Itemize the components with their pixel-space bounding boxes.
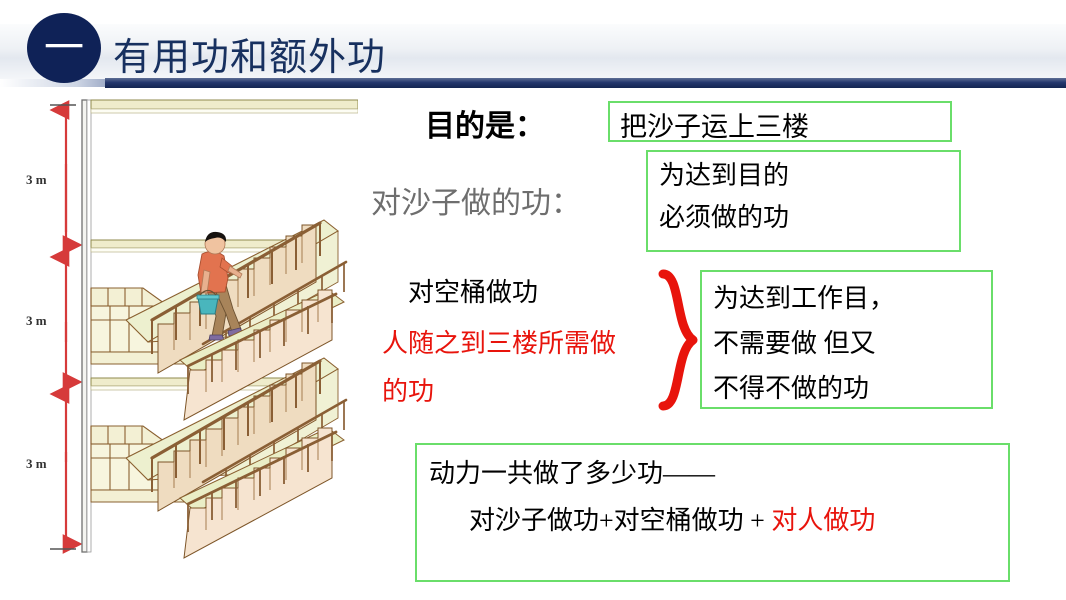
necessary-work-line-1: 为达到目的	[659, 155, 789, 197]
person-work-label: 人随之到三楼所需做的功	[382, 320, 632, 416]
measure-label-bottom: 3 m	[26, 456, 47, 472]
necessary-work-line-2: 必须做的功	[659, 197, 789, 239]
goal-box: 把沙子运上三楼	[608, 101, 952, 142]
total-work-formula-black: 对沙子做功+对空桶做功 +	[469, 506, 771, 535]
total-work-box: 动力一共做了多少功—— 对沙子做功+对空桶做功 + 对人做功	[415, 443, 1010, 582]
necessary-work-box-text: 为达到目的 必须做的功	[659, 155, 789, 239]
extra-work-box-text: 为达到工作目， 不需要做 但又 不得不做的功	[713, 276, 895, 411]
staircase-illustration: 3 m 3 m 3 m	[28, 92, 358, 562]
sand-work-label: 对沙子做的功：	[371, 178, 581, 222]
red-curly-brace	[655, 268, 700, 413]
total-work-formula: 对沙子做功+对空桶做功 + 对人做功	[469, 500, 875, 537]
total-work-question: 动力一共做了多少功——	[429, 453, 715, 490]
purpose-label: 目的是：	[425, 101, 545, 145]
extra-work-line-3: 不得不做的功	[713, 366, 895, 411]
measure-label-top: 3 m	[26, 172, 47, 188]
section-number-badge: 一	[27, 13, 101, 83]
section-number-label: 一	[27, 13, 101, 83]
extra-work-line-2: 不需要做 但又	[713, 321, 895, 366]
extra-work-box: 为达到工作目， 不需要做 但又 不得不做的功	[700, 270, 993, 409]
goal-box-text: 把沙子运上三楼	[620, 105, 809, 144]
bucket-work-label: 对空桶做功	[408, 272, 538, 309]
total-work-formula-red: 对人做功	[771, 506, 875, 535]
measure-label-middle: 3 m	[26, 313, 47, 329]
extra-work-line-1: 为达到工作目，	[713, 276, 895, 321]
page-title: 有用功和额外功	[113, 26, 386, 81]
necessary-work-box: 为达到目的 必须做的功	[646, 150, 961, 252]
